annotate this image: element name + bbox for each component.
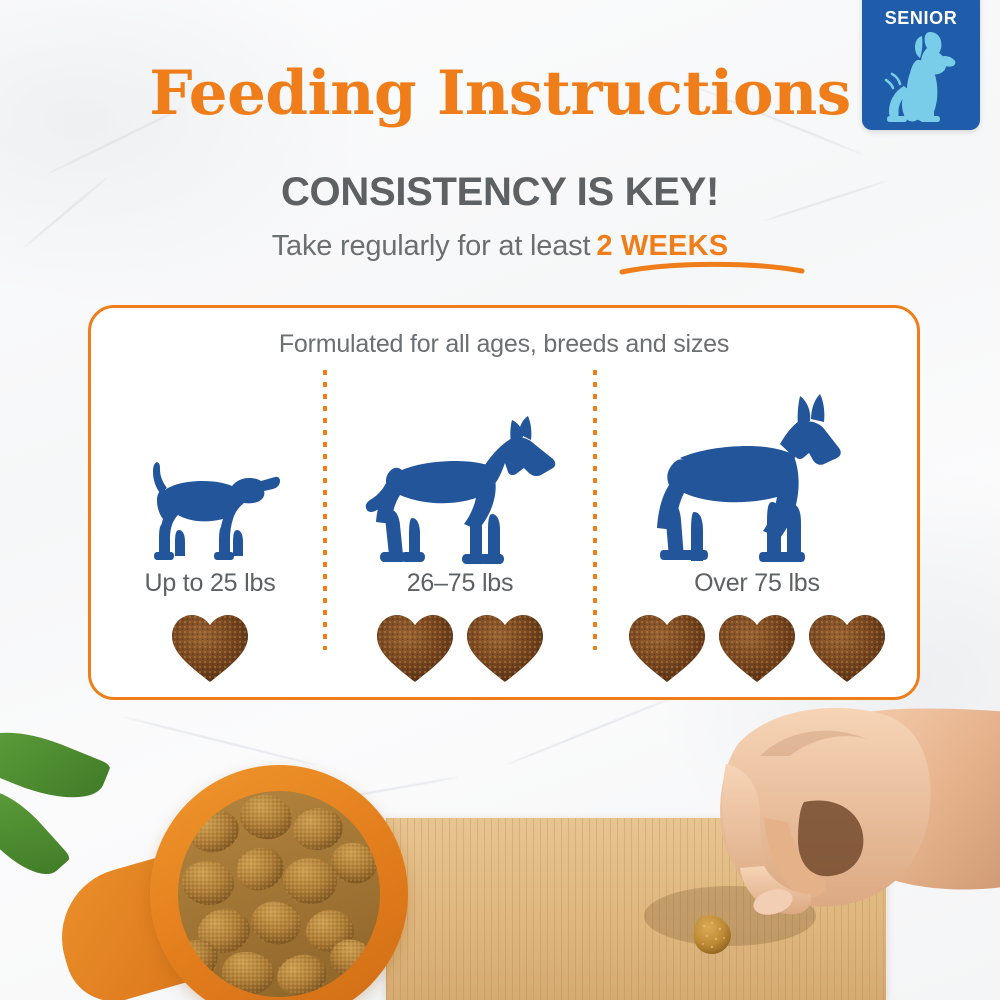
- heart-treat-icon: [169, 611, 251, 690]
- heart-treat-icon: [806, 611, 888, 690]
- orange-scoop-cup: [150, 765, 408, 1000]
- underline-swoosh-icon: [619, 260, 805, 281]
- feeding-chart-card: Formulated for all ages, breeds and size…: [88, 305, 920, 700]
- card-note: Formulated for all ages, breeds and size…: [91, 330, 917, 359]
- small-dog-icon: [97, 446, 323, 564]
- treat-portion-medium: [327, 611, 593, 690]
- scoop-kibble-fill: [178, 791, 380, 997]
- subtitle: CONSISTENCY IS KEY!: [0, 170, 1000, 215]
- badge-label: SENIOR: [862, 8, 980, 29]
- heart-treat-icon: [626, 611, 708, 690]
- kibble-pieces: [178, 984, 380, 997]
- page-title: Feeding Instructions: [0, 58, 1000, 129]
- tagline: Take regularly for at least2 WEEKS: [0, 230, 1000, 263]
- tagline-highlight: 2 WEEKS: [596, 230, 728, 263]
- heart-treat-icon: [716, 611, 798, 690]
- product-photo: [0, 690, 1000, 1000]
- heart-treat-icon: [374, 611, 456, 690]
- feeding-column-medium: 26–75 lbs: [327, 364, 593, 684]
- green-plant-leaf-icon: [0, 715, 111, 815]
- tagline-prefix: Take regularly for at least: [272, 230, 591, 262]
- feeding-column-small: Up to 25 lbs: [97, 364, 323, 684]
- treat-portion-large: [597, 611, 917, 690]
- large-dog-icon: [597, 392, 917, 564]
- weight-label: Up to 25 lbs: [97, 569, 323, 598]
- heart-treat-icon: [464, 611, 546, 690]
- weight-label: Over 75 lbs: [597, 569, 917, 598]
- medium-dog-icon: [327, 414, 593, 564]
- weight-label: 26–75 lbs: [327, 569, 593, 598]
- held-kibble-treat: [690, 912, 724, 946]
- feeding-column-large: Over 75 lbs: [597, 364, 917, 684]
- treat-portion-small: [97, 611, 323, 690]
- hand-holding-treat-icon: [618, 698, 1000, 968]
